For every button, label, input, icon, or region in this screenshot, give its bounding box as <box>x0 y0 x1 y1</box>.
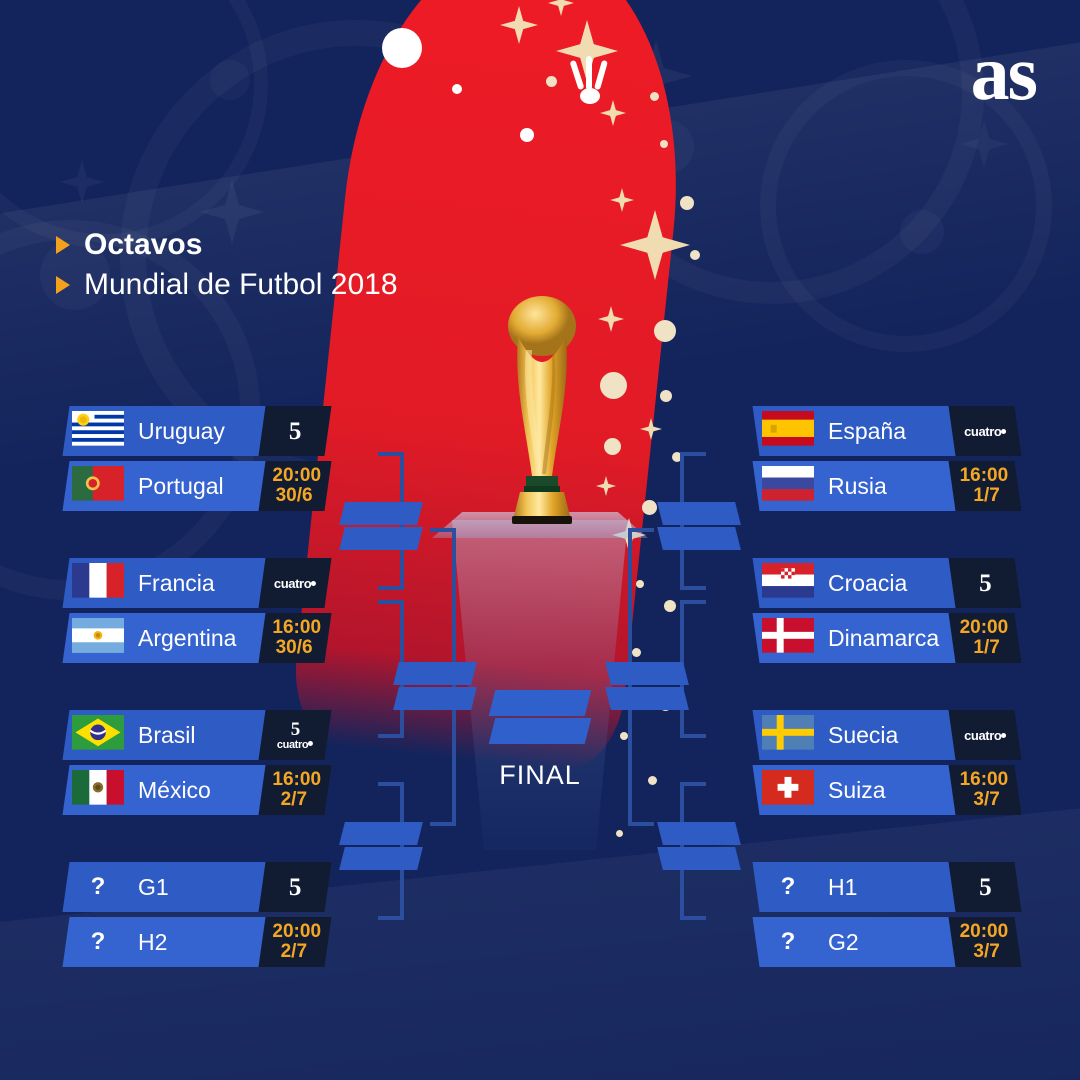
channel-telecinco-logo: 5 <box>289 875 301 900</box>
team-name: Croacia <box>828 558 907 608</box>
team-row[interactable]: ? G1 5 <box>66 862 324 912</box>
match-info-box: 16:00 1/7 <box>948 461 1021 511</box>
semifinal-slot <box>605 662 689 685</box>
team-name: Suecia <box>828 710 898 760</box>
match-card[interactable]: Croacia 5 Dinamarca 20:00 1/7 <box>756 558 1014 668</box>
match-date: 1/7 <box>973 486 999 506</box>
semifinal-slot <box>393 687 477 710</box>
team-row[interactable]: ? H2 20:00 2/7 <box>66 917 324 967</box>
match-info-box: 16:00 30/6 <box>258 613 331 663</box>
team-row[interactable]: Dinamarca 20:00 1/7 <box>756 613 1014 663</box>
channel-telecinco-logo: 5 <box>979 571 991 596</box>
semifinal-slot <box>605 687 689 710</box>
match-info-box: 20:00 2/7 <box>258 917 331 967</box>
flag-rusia-icon <box>762 466 814 506</box>
triangle-bullet-icon <box>56 236 70 254</box>
team-row[interactable]: Francia cuatro <box>66 558 324 608</box>
heading-row-secondary: Mundial de Futbol 2018 <box>56 268 398 302</box>
match-date: 3/7 <box>973 942 999 962</box>
quarterfinal-slot <box>657 822 741 845</box>
team-name: Brasil <box>138 710 196 760</box>
team-row[interactable]: Argentina 16:00 30/6 <box>66 613 324 663</box>
quarterfinal-slot <box>339 502 423 525</box>
match-card[interactable]: Uruguay 5 Portugal 20:00 30/6 <box>66 406 324 516</box>
unknown-team-icon: ? <box>72 917 124 967</box>
match-time: 16:00 <box>959 770 1008 790</box>
flag-portugal-icon <box>72 466 124 506</box>
match-date: 30/6 <box>275 486 312 506</box>
match-time: 20:00 <box>272 466 321 486</box>
match-date: 2/7 <box>280 790 306 810</box>
team-name: Francia <box>138 558 215 608</box>
match-info-box: cuatro <box>948 406 1021 456</box>
quarterfinal-slot <box>339 822 423 845</box>
flag-croacia-icon <box>762 563 814 603</box>
match-card[interactable]: ? H1 5 ? G2 20:00 3/7 <box>756 862 1014 972</box>
match-info-box: 5 <box>258 862 331 912</box>
team-name: España <box>828 406 906 456</box>
team-row[interactable]: Portugal 20:00 30/6 <box>66 461 324 511</box>
team-row[interactable]: Brasil 5 cuatro <box>66 710 324 760</box>
channel-cuatro-logo: cuatro <box>964 729 1006 742</box>
match-info-box: 5 <box>258 406 331 456</box>
match-info-box: 5 cuatro <box>258 710 331 760</box>
flag-dinamarca-icon <box>762 618 814 658</box>
team-row[interactable]: Suiza 16:00 3/7 <box>756 765 1014 815</box>
flag-brasil-icon <box>72 715 124 755</box>
team-name: Argentina <box>138 613 236 663</box>
match-date: 30/6 <box>275 638 312 658</box>
channel-cuatro-logo: cuatro <box>964 425 1006 438</box>
flag-mexico-icon <box>72 770 124 810</box>
flag-suecia-icon <box>762 715 814 755</box>
as-logo[interactable]: as <box>971 34 1036 112</box>
channel-cuatro-logo: cuatro <box>274 577 316 590</box>
match-time: 16:00 <box>959 466 1008 486</box>
flag-uruguay-icon <box>72 411 124 451</box>
quarterfinal-slot <box>657 527 741 550</box>
team-row[interactable]: ? G2 20:00 3/7 <box>756 917 1014 967</box>
quarterfinal-slot <box>657 502 741 525</box>
match-time: 20:00 <box>272 922 321 942</box>
match-info-box: 16:00 3/7 <box>948 765 1021 815</box>
match-time: 20:00 <box>959 618 1008 638</box>
team-name: México <box>138 765 211 815</box>
unknown-team-icon: ? <box>762 862 814 912</box>
team-name: Suiza <box>828 765 886 815</box>
team-row[interactable]: Suecia cuatro <box>756 710 1014 760</box>
team-name: H1 <box>828 862 857 912</box>
match-info-box: 16:00 2/7 <box>258 765 331 815</box>
match-time: 16:00 <box>272 770 321 790</box>
team-name: G1 <box>138 862 169 912</box>
quarterfinal-slot <box>339 847 423 870</box>
team-row[interactable]: España cuatro <box>756 406 1014 456</box>
bracket-infographic: Octavos Mundial de Futbol 2018 as <box>0 0 1080 1080</box>
final-slot <box>489 690 591 716</box>
unknown-team-icon: ? <box>762 917 814 967</box>
match-info-box: 20:00 3/7 <box>948 917 1021 967</box>
match-card[interactable]: Brasil 5 cuatro México 16:00 2/7 <box>66 710 324 820</box>
match-info-box: 20:00 30/6 <box>258 461 331 511</box>
team-name: Dinamarca <box>828 613 939 663</box>
match-info-box: cuatro <box>258 558 331 608</box>
flag-francia-icon <box>72 563 124 603</box>
match-time: 20:00 <box>959 922 1008 942</box>
match-card[interactable]: ? G1 5 ? H2 20:00 2/7 <box>66 862 324 972</box>
flag-suiza-icon <box>762 770 814 810</box>
heading-row-primary: Octavos <box>56 228 398 262</box>
match-info-box: 5 <box>948 558 1021 608</box>
flag-argentina-icon <box>72 618 124 658</box>
team-row[interactable]: Uruguay 5 <box>66 406 324 456</box>
channel-telecinco-logo: 5 <box>289 419 301 444</box>
page-subtitle: Mundial de Futbol 2018 <box>84 268 398 302</box>
channel-telecinco-logo: 5 <box>979 875 991 900</box>
channel-cuatro-logo: cuatro <box>277 740 313 751</box>
team-row[interactable]: Rusia 16:00 1/7 <box>756 461 1014 511</box>
match-info-box: cuatro <box>948 710 1021 760</box>
match-card[interactable]: Francia cuatro Argentina 16:00 30/6 <box>66 558 324 668</box>
quarterfinal-slot <box>657 847 741 870</box>
team-row[interactable]: México 16:00 2/7 <box>66 765 324 815</box>
match-date: 3/7 <box>973 790 999 810</box>
match-info-box: 20:00 1/7 <box>948 613 1021 663</box>
team-name: H2 <box>138 917 167 967</box>
team-name: G2 <box>828 917 859 967</box>
match-card[interactable]: España cuatro Rusia 16:00 1/7 <box>756 406 1014 516</box>
team-name: Uruguay <box>138 406 225 456</box>
match-time: 16:00 <box>272 618 321 638</box>
unknown-team-icon: ? <box>72 862 124 912</box>
triangle-bullet-icon <box>56 276 70 294</box>
page-title: Octavos <box>84 228 202 262</box>
match-info-box: 5 <box>948 862 1021 912</box>
channel-telecinco-logo: 5 <box>291 720 300 739</box>
match-date: 1/7 <box>973 638 999 658</box>
match-date: 2/7 <box>280 942 306 962</box>
team-row[interactable]: Croacia 5 <box>756 558 1014 608</box>
world-cup-trophy-icon <box>492 290 592 530</box>
match-card[interactable]: Suecia cuatro Suiza 16:00 3/7 <box>756 710 1014 820</box>
flag-espana-icon <box>762 411 814 451</box>
team-name: Rusia <box>828 461 887 511</box>
heading-block: Octavos Mundial de Futbol 2018 <box>56 228 398 308</box>
team-row[interactable]: ? H1 5 <box>756 862 1014 912</box>
final-slot <box>489 718 591 744</box>
semifinal-slot <box>393 662 477 685</box>
quarterfinal-slot <box>339 527 423 550</box>
pedestal <box>440 520 640 850</box>
team-name: Portugal <box>138 461 224 511</box>
